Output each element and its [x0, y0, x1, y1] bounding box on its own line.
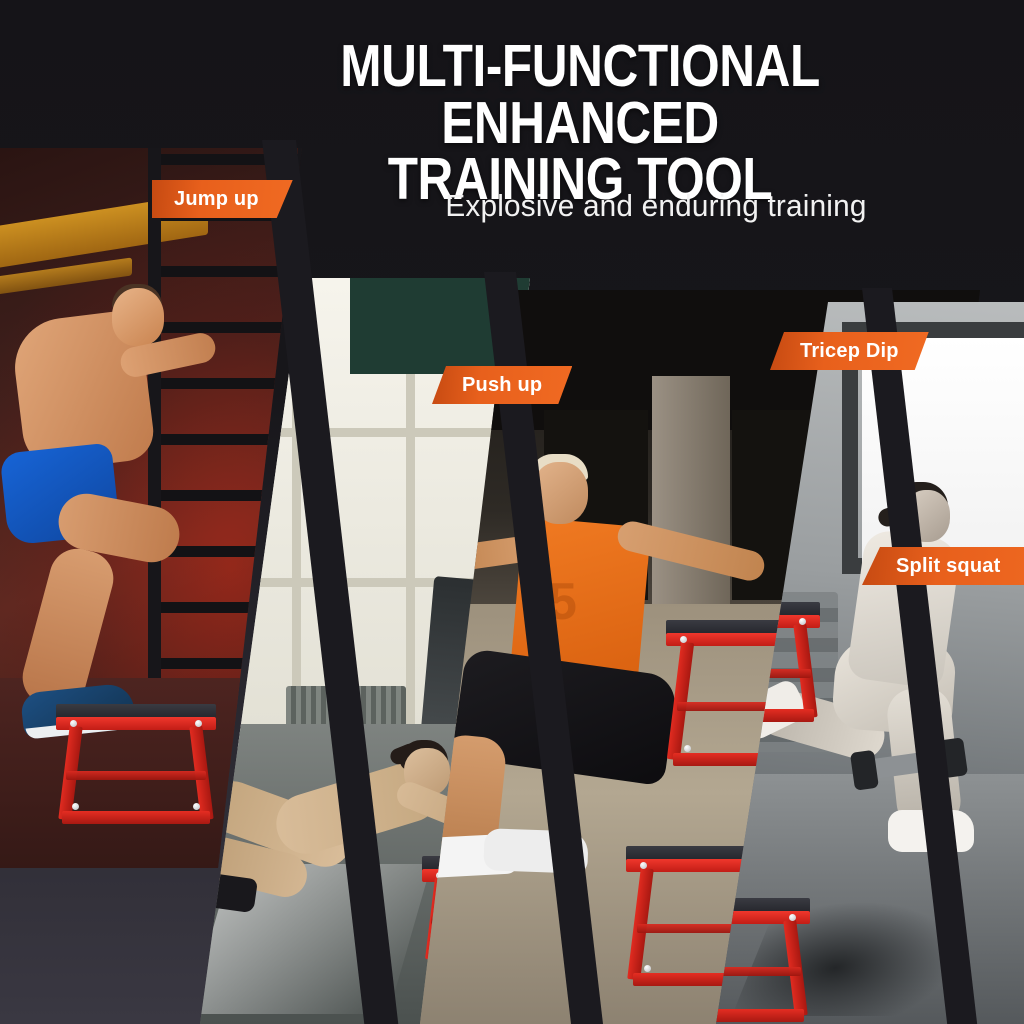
badge-split-squat: Split squat — [862, 547, 1024, 585]
page-title: MULTI-FUNCTIONAL ENHANCED TRAINING TOOL — [219, 38, 941, 208]
badge-jump-up: Jump up — [152, 180, 293, 218]
badge-split-squat-label: Split squat — [896, 555, 1000, 578]
badge-push-up: Push up — [432, 366, 572, 404]
badge-tricep-dip-label: Tricep Dip — [800, 340, 899, 363]
badge-tricep-dip: Tricep Dip — [770, 332, 929, 370]
page-subtitle: Explosive and enduring training — [314, 188, 998, 224]
badge-push-up-label: Push up — [462, 374, 542, 397]
badge-jump-up-label: Jump up — [174, 188, 259, 211]
window-mullion-v2 — [406, 374, 415, 748]
plyo-box — [56, 704, 216, 824]
product-feature-poster: 5 — [0, 0, 1024, 1024]
athlete-head — [112, 288, 164, 346]
